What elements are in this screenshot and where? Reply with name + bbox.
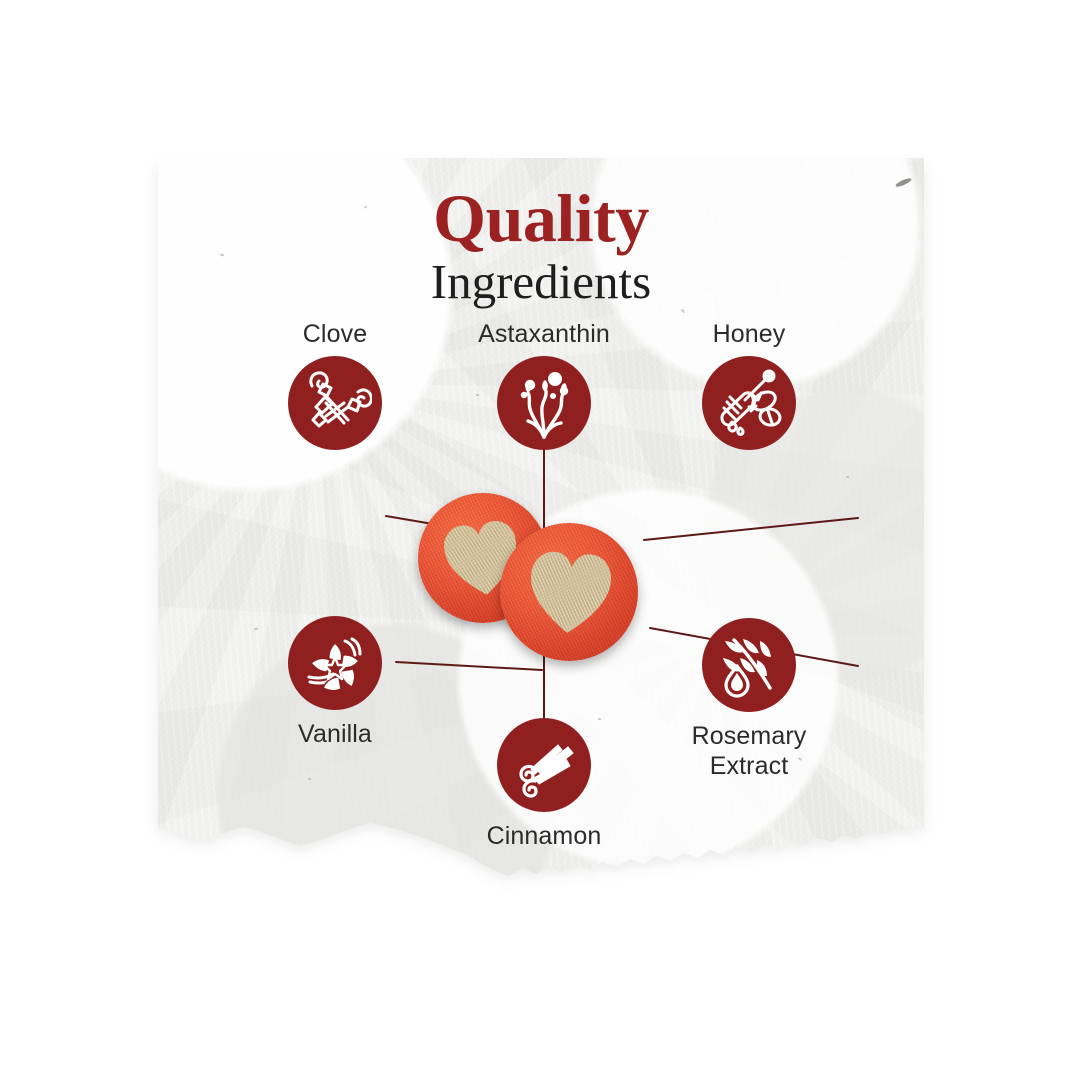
node-label-rosemary-line1: Rosemary bbox=[642, 722, 856, 751]
heart-shape-front bbox=[523, 546, 617, 640]
vanilla-icon-circle[interactable] bbox=[288, 616, 382, 710]
clove-buds-icon bbox=[298, 366, 372, 440]
node-label-cinnamon: Cinnamon bbox=[437, 822, 651, 851]
paper-texture-surface: Quality Ingredients As bbox=[158, 158, 924, 882]
node-label-rosemary-line2: Extract bbox=[642, 752, 856, 781]
rosemary-icon-circle[interactable] bbox=[702, 618, 796, 712]
algae-icon bbox=[508, 367, 580, 439]
cinnamon-sticks-icon bbox=[508, 729, 580, 801]
node-label-astaxanthin: Astaxanthin bbox=[437, 320, 651, 349]
radial-ingredient-diagram: Astaxanthin bbox=[158, 158, 924, 882]
vanilla-flower-icon bbox=[297, 625, 373, 701]
ingredients-infographic: Quality Ingredients As bbox=[0, 0, 1080, 1080]
node-label-honey: Honey bbox=[642, 320, 856, 349]
cookie-front bbox=[500, 523, 638, 661]
rosemary-sprig-droplet-icon bbox=[712, 628, 786, 702]
astaxanthin-icon-circle[interactable] bbox=[497, 356, 591, 450]
clove-icon-circle[interactable] bbox=[288, 356, 382, 450]
node-label-clove: Clove bbox=[228, 320, 442, 349]
cinnamon-icon-circle[interactable] bbox=[497, 718, 591, 812]
honey-icon-circle[interactable] bbox=[702, 356, 796, 450]
product-cookies-image bbox=[416, 493, 646, 663]
honey-dipper-bee-icon bbox=[712, 366, 786, 440]
torn-paper-card: Quality Ingredients As bbox=[158, 158, 924, 882]
connector-vanilla bbox=[396, 662, 542, 670]
connector-honey bbox=[644, 518, 858, 540]
node-label-vanilla: Vanilla bbox=[228, 720, 442, 749]
